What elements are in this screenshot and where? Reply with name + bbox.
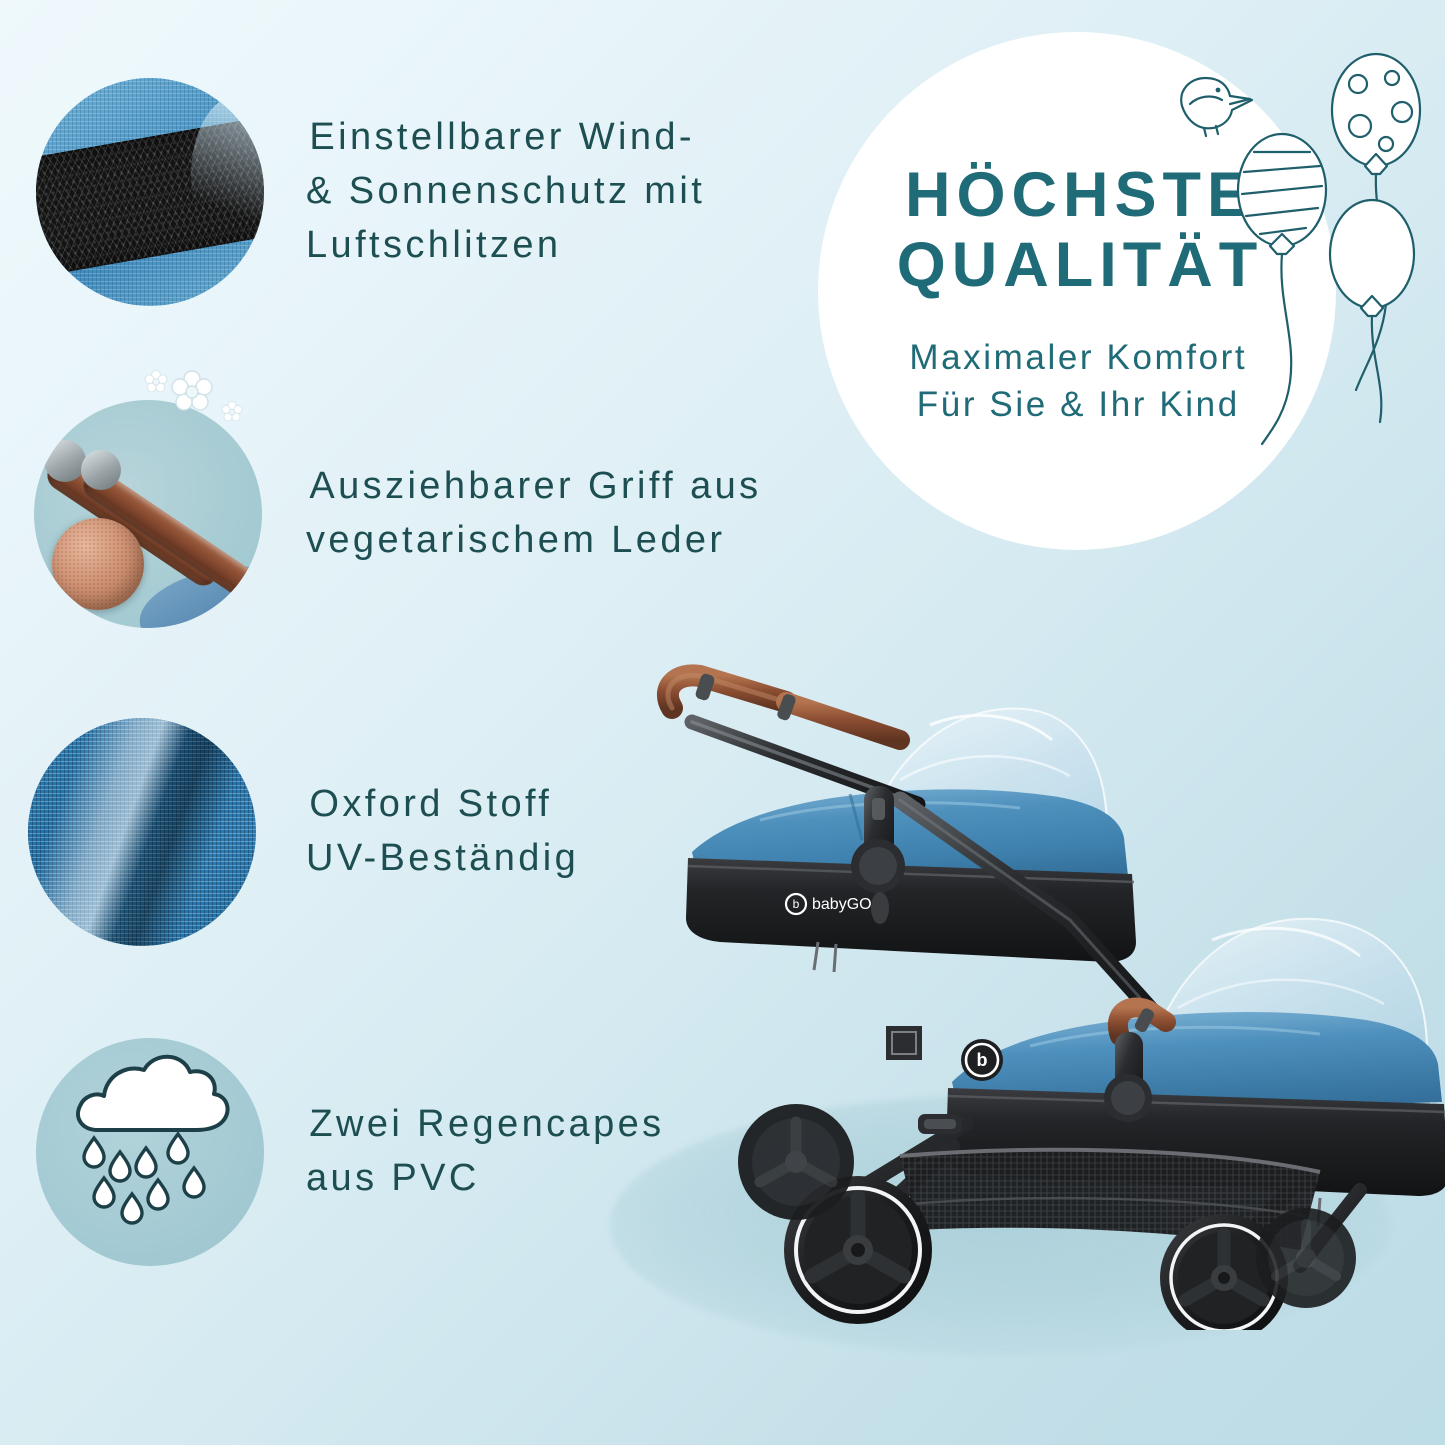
fabric-fold-highlight [28,718,256,946]
flower-icon-small-1 [145,370,167,391]
leather-texture-closeup [52,518,144,610]
handle-cap-2 [81,450,121,490]
quality-seal: HÖCHSTE QUALITÄT Maximaler Komfort Für S… [818,32,1336,550]
feature-row-4: Zwei Regencapes aus PVC [36,1038,665,1266]
feature-label-1: Einstellbarer Wind- & Sonnenschutz mit L… [306,111,705,273]
headline-line-2: QUALITÄT [891,230,1263,301]
subline-line-2: Für Sie & Ihr Kind [907,382,1247,429]
feature-label-4: Zwei Regencapes aus PVC [306,1098,665,1206]
twin-stroller-photo: b babyGO [600,590,1445,1330]
feature-row-1: Einstellbarer Wind- & Sonnenschutz mit L… [36,78,705,306]
feature-row-2: Ausziehbarer Griff aus vegetarischem Led… [34,400,762,628]
svg-text:b: b [977,1050,988,1070]
frame-logo-badge: b [961,1039,1003,1081]
leather-handle-photo [34,400,262,628]
quality-seal-headline: HÖCHSTE QUALITÄT [891,160,1263,301]
svg-text:b: b [793,897,800,911]
balloon-dotted-icon [1332,54,1420,390]
feature-label-3: Oxford Stoff UV-Beständig [306,778,579,886]
flower-icon-small-2 [222,402,242,422]
flower-icon-large [172,371,212,410]
mesh-ventilation-photo [36,78,264,306]
quality-seal-subline: Maximaler Komfort Für Sie & Ihr Kind [907,335,1247,429]
headline-line-1: HÖCHSTE [891,160,1263,231]
product-infographic: b babyGO [0,0,1445,1445]
rain-cloud-icon [36,1038,264,1266]
svg-text:babyGO: babyGO [812,896,872,913]
front-wheel-secondary [1256,1208,1356,1308]
feature-label-2: Ausziehbarer Griff aus vegetarischem Led… [306,460,762,568]
oxford-fabric-photo [28,718,256,946]
leather-handle [668,672,918,804]
handle-cap-1 [44,440,86,482]
balloon-plain-icon [1330,200,1414,422]
rain-cloud-icon-wrap [36,1038,264,1266]
feature-row-3: Oxford Stoff UV-Beständig [28,718,579,946]
flower-decoration [140,366,250,428]
subline-line-1: Maximaler Komfort [907,335,1247,382]
rear-wheel-secondary [738,1104,854,1220]
